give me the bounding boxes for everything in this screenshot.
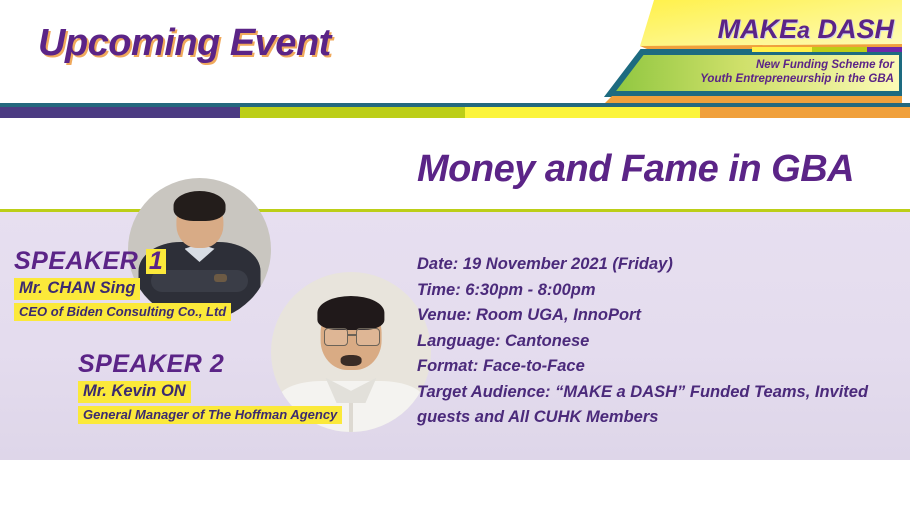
stripe-lime bbox=[240, 107, 465, 118]
brand-tagline: New Funding Scheme for Youth Entrepreneu… bbox=[700, 58, 894, 86]
detail-target-audience: Target Audience: “MAKE a DASH” Funded Te… bbox=[417, 380, 895, 431]
poster-header: Upcoming Event bbox=[0, 0, 910, 118]
brand-a: a bbox=[797, 17, 810, 43]
brand-dash: DASH bbox=[817, 14, 894, 44]
speaker-2-name-row: Mr. Kevin ON bbox=[78, 381, 342, 403]
event-title: Money and Fame in GBA bbox=[417, 148, 854, 191]
photo-2-hair bbox=[317, 296, 384, 330]
photo-2-glasses-right bbox=[356, 328, 380, 346]
speaker-2-name: Mr. Kevin ON bbox=[78, 381, 191, 403]
photo-2-goatee bbox=[341, 355, 362, 366]
brand-make: MAKE bbox=[718, 14, 798, 44]
speaker-1-name-row: Mr. CHAN Sing bbox=[14, 278, 231, 300]
detail-format: Format: Face-to-Face bbox=[417, 354, 895, 380]
detail-venue: Venue: Room UGA, InnoPort bbox=[417, 303, 895, 329]
speaker-1-heading-label: SPEAKER bbox=[14, 247, 138, 275]
stripe-purple bbox=[0, 107, 240, 118]
speaker-2-info: SPEAKER 2 Mr. Kevin ON General Manager o… bbox=[78, 352, 342, 424]
detail-date: Date: 19 November 2021 (Friday) bbox=[417, 252, 895, 278]
detail-time: Time: 6:30pm - 8:00pm bbox=[417, 278, 895, 304]
speaker-1-number: 1 bbox=[146, 249, 166, 274]
speaker-1-info: SPEAKER 1 Mr. CHAN Sing CEO of Biden Con… bbox=[14, 249, 231, 321]
event-details: Date: 19 November 2021 (Friday) Time: 6:… bbox=[417, 252, 895, 431]
photo-2-glasses-left bbox=[324, 328, 348, 346]
speaker-1-heading: SPEAKER 1 bbox=[14, 249, 231, 274]
tagline-line-1: New Funding Scheme for bbox=[700, 58, 894, 72]
header-stripe-band bbox=[0, 103, 910, 118]
speaker-2-role: General Manager of The Hoffman Agency bbox=[78, 406, 342, 424]
upcoming-event-label: Upcoming Event bbox=[38, 22, 331, 65]
make-a-dash-logo: MAKEa DASH New Funding Scheme for Youth … bbox=[602, 0, 902, 112]
speaker-2-number: 2 bbox=[210, 350, 224, 378]
brand-wordmark: MAKEa DASH bbox=[718, 14, 894, 45]
photo-1-hair bbox=[173, 191, 226, 221]
speaker-1-name: Mr. CHAN Sing bbox=[14, 278, 140, 300]
stripe-yellow bbox=[465, 107, 700, 118]
speaker-1-role: CEO of Biden Consulting Co., Ltd bbox=[14, 303, 231, 321]
tagline-line-2: Youth Entrepreneurship in the GBA bbox=[700, 72, 894, 86]
speaker-1-role-row: CEO of Biden Consulting Co., Ltd bbox=[14, 303, 231, 321]
detail-language: Language: Cantonese bbox=[417, 329, 895, 355]
speaker-2-role-row: General Manager of The Hoffman Agency bbox=[78, 406, 342, 424]
speaker-2-heading: SPEAKER 2 bbox=[78, 352, 342, 377]
speaker-2-heading-label: SPEAKER bbox=[78, 350, 202, 378]
photo-2-glasses-bridge bbox=[348, 334, 356, 336]
poster-footer: Organiser 香港中文大學研發及知識轉移服務處 Office of Res… bbox=[0, 460, 910, 512]
event-poster: Upcoming Event bbox=[0, 0, 910, 512]
stripe-orange bbox=[700, 107, 910, 118]
